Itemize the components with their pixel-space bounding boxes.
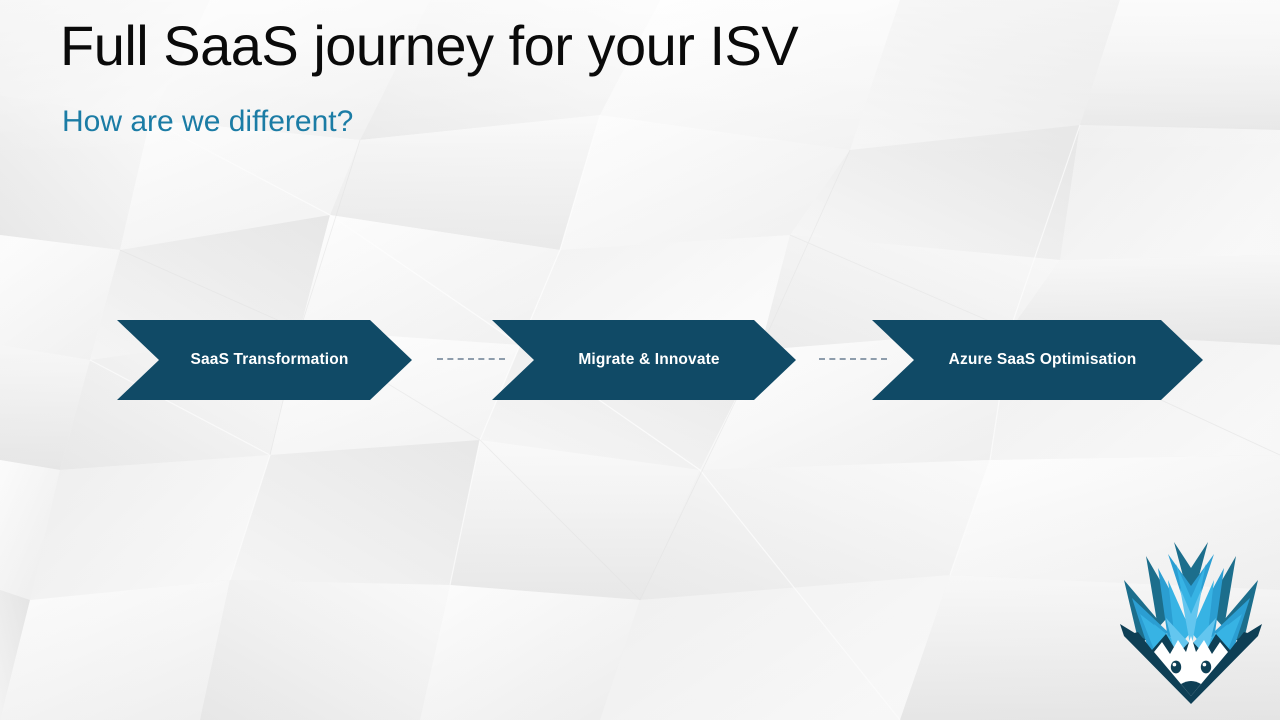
process-step-label: SaaS Transformation	[167, 351, 363, 369]
page-title: Full SaaS journey for your ISV	[60, 16, 798, 76]
process-step-saas-transformation[interactable]: SaaS Transformation	[117, 320, 412, 400]
page-subtitle: How are we different?	[62, 104, 353, 140]
hedgehog-logo-svg	[1106, 528, 1276, 704]
process-step-migrate-innovate[interactable]: Migrate & Innovate	[492, 320, 796, 400]
process-step-label: Migrate & Innovate	[554, 351, 733, 369]
process-step-label: Azure SaaS Optimisation	[925, 351, 1151, 369]
dashed-connector-1	[437, 358, 505, 363]
process-flow: SaaS Transformation Migrate & Innovate A…	[0, 320, 1280, 400]
hedgehog-logo	[1106, 528, 1276, 704]
process-step-azure-saas-optimisation[interactable]: Azure SaaS Optimisation	[872, 320, 1203, 400]
slide: Full SaaS journey for your ISV How are w…	[0, 0, 1280, 720]
dashed-connector-2	[819, 358, 887, 363]
